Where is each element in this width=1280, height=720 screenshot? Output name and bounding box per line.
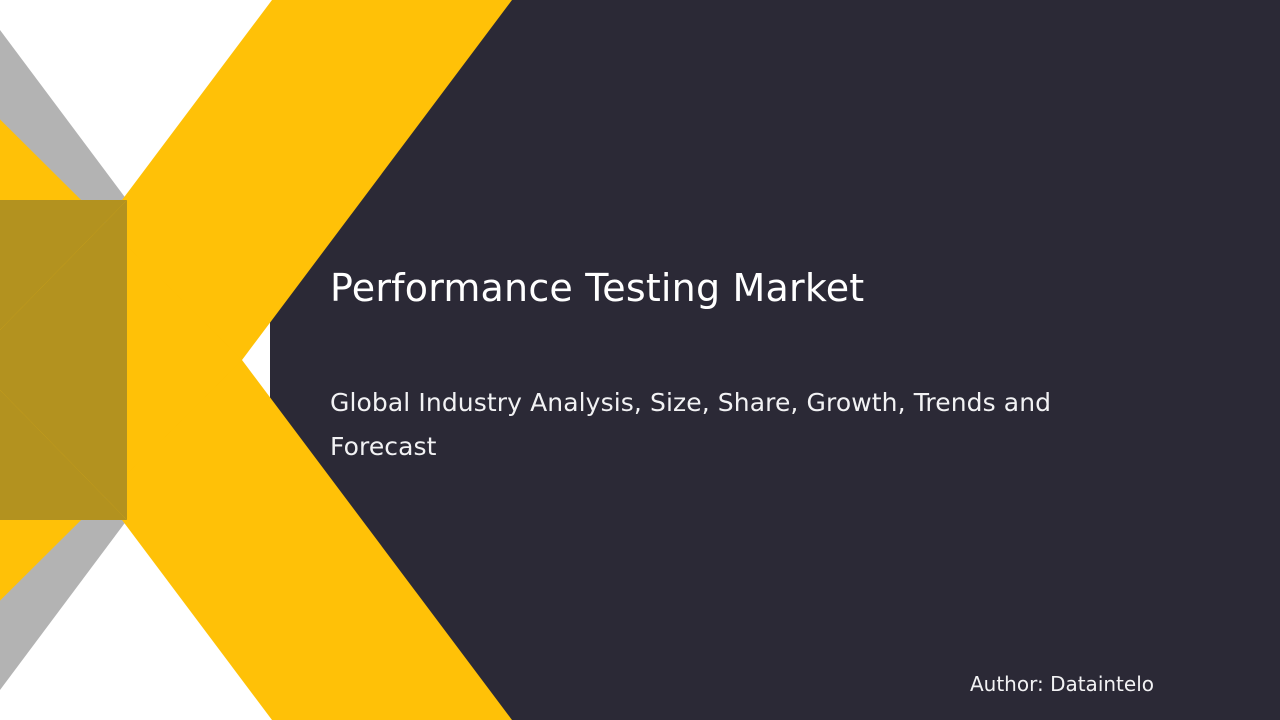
author-credit: Author: Dataintelo: [330, 670, 1154, 698]
slide-text-content: Performance Testing Market Global Indust…: [0, 0, 1280, 720]
slide-subtitle: Global Industry Analysis, Size, Share, G…: [330, 381, 1090, 469]
report-cover-slide: Performance Testing Market Global Indust…: [0, 0, 1280, 720]
page-title: Performance Testing Market: [330, 262, 1160, 314]
